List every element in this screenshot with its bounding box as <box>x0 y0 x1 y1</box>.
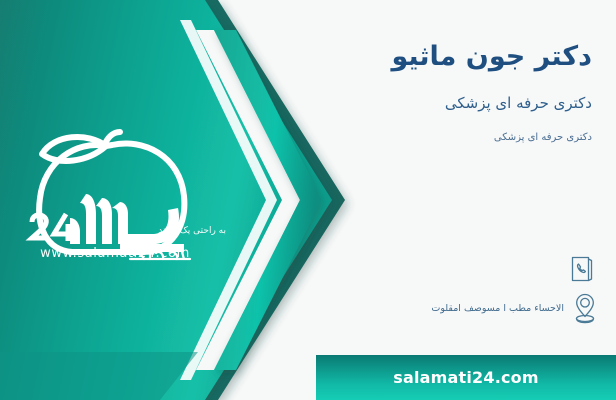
address-row: الاحساء مطب ا مسوصف امقلوت <box>431 292 598 324</box>
doctor-specialty-primary: دکتری حرفه ای پزشکی <box>172 94 592 114</box>
doctor-profile-card: به راحتی یک لبخند www.salamati24.com دکت… <box>0 0 616 400</box>
logo-website-url: www.salamati24.com <box>20 246 210 261</box>
website-banner[interactable]: salamati24.com <box>316 355 616 400</box>
website-banner-text: salamati24.com <box>393 368 539 387</box>
doctor-name: دکتر جون ماثیو <box>172 40 592 74</box>
logo-tagline: به راحتی یک لبخند <box>118 226 226 236</box>
phone-book-icon <box>570 255 594 283</box>
location-pin-icon <box>572 292 598 324</box>
footer-teal-block <box>0 352 198 400</box>
doctor-specialty-secondary: دکتری حرفه ای پزشکی <box>172 131 592 144</box>
address-text: الاحساء مطب ا مسوصف امقلوت <box>431 303 564 314</box>
